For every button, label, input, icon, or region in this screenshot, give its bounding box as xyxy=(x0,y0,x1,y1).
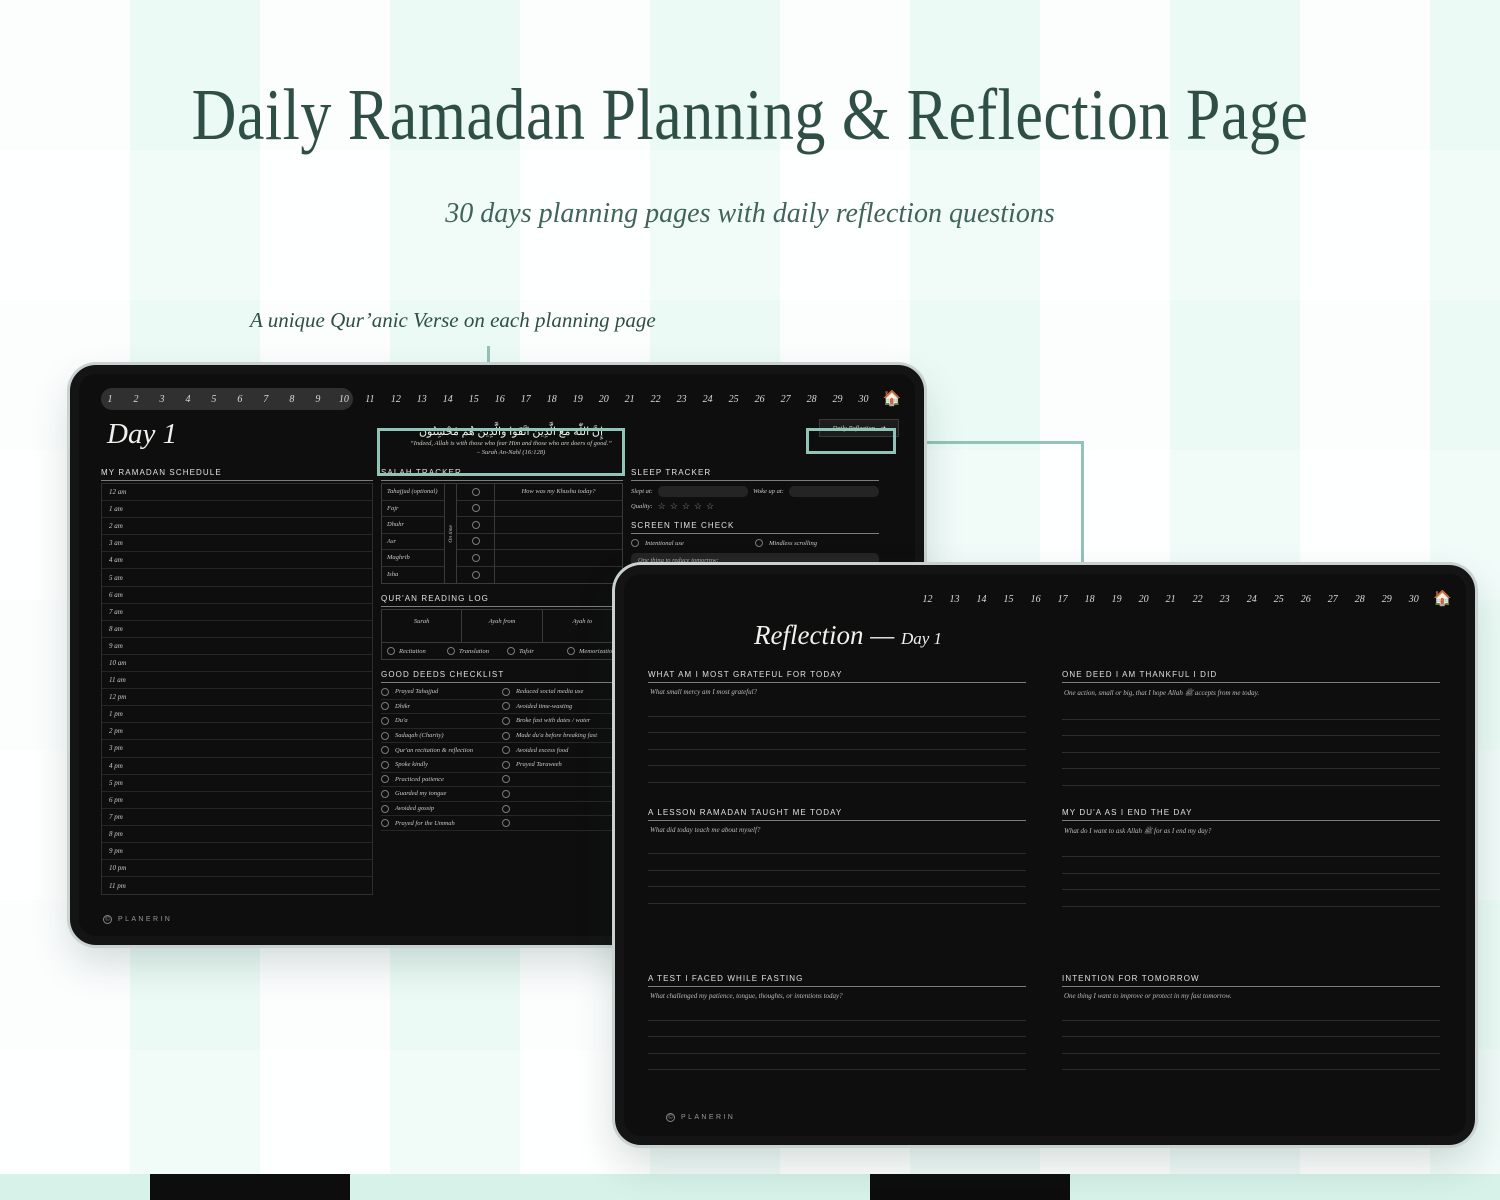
quran-log-headers: SurahAyah fromAyah to xyxy=(382,610,622,632)
slept-at-label: Slept at: xyxy=(631,488,653,495)
checkbox-icon[interactable] xyxy=(502,819,510,827)
checkbox-icon[interactable] xyxy=(381,746,389,754)
day-nav-26[interactable]: 26 xyxy=(747,394,773,405)
write-line[interactable] xyxy=(648,1036,1026,1037)
star-icon[interactable]: ☆ xyxy=(682,502,690,511)
deed-item-left[interactable]: Du'a xyxy=(381,714,502,728)
reflection-title-day: Day 1 xyxy=(901,629,942,648)
divider xyxy=(381,606,623,607)
deed-item-right[interactable]: Avoided excess food xyxy=(502,743,623,757)
quran-log-title: QUR'AN READING LOG xyxy=(381,594,623,606)
day-nav-30[interactable]: 30 xyxy=(851,394,877,405)
checkbox-icon[interactable] xyxy=(381,702,389,710)
deed-item-left[interactable]: Guarded my tongue xyxy=(381,787,502,801)
day-nav-6[interactable]: 6 xyxy=(227,394,253,405)
day-nav-4[interactable]: 4 xyxy=(175,394,201,405)
bottom-strip xyxy=(0,1174,1500,1200)
copyright-icon: © xyxy=(666,1113,675,1122)
checkbox-icon[interactable] xyxy=(472,571,480,579)
salah-check-cells[interactable] xyxy=(457,484,495,583)
quran-log-option[interactable]: Tafsir xyxy=(502,647,562,655)
reflection-block-one-deed[interactable]: ONE DEED I AM THANKFUL I DID One action,… xyxy=(1062,670,1440,786)
khushu-cell[interactable] xyxy=(495,501,622,518)
checkbox-icon[interactable] xyxy=(472,504,480,512)
deed-row[interactable]: Prayed for the Ummah xyxy=(381,816,623,831)
woke-up-input[interactable] xyxy=(789,486,879,497)
deed-item-left[interactable]: Prayed Tahajjud xyxy=(381,685,502,699)
reflection-day-navigation[interactable]: 12 13 14 15 16 17 18 19 20 21 22 23 24 2… xyxy=(914,588,1452,610)
day-nav-13[interactable]: 13 xyxy=(409,394,435,405)
deed-item-right[interactable]: Made du'a before breaking fast xyxy=(502,729,623,743)
checkbox-icon[interactable] xyxy=(381,732,389,740)
write-line[interactable] xyxy=(648,1053,1026,1054)
write-line[interactable] xyxy=(1062,1069,1440,1070)
deed-item-right[interactable]: Avoided time-wasting xyxy=(502,700,623,714)
checkbox-icon[interactable] xyxy=(387,647,395,655)
sleep-quality-row: Quality: ☆☆☆☆☆ xyxy=(631,502,879,511)
option-label: Intentional use xyxy=(645,540,684,547)
schedule-table[interactable]: 12 am1 am2 am3 am4 am5 am6 am7 am8 am9 a… xyxy=(101,483,373,895)
deed-row[interactable]: Guarded my tongue xyxy=(381,787,623,802)
divider xyxy=(101,480,373,481)
write-line[interactable] xyxy=(648,749,1026,750)
quran-log-body[interactable] xyxy=(382,632,622,643)
salah-row-label: Fajr xyxy=(382,501,444,518)
refl-day-nav-21[interactable]: 21 xyxy=(1157,594,1184,605)
khushu-cell[interactable]: How was my Khushu today? xyxy=(495,484,622,501)
write-line[interactable] xyxy=(1062,1036,1440,1037)
checkbox-icon[interactable] xyxy=(447,647,455,655)
reflection-title-main: Reflection — xyxy=(754,620,894,650)
checkbox-icon[interactable] xyxy=(472,554,480,562)
day-nav-19[interactable]: 19 xyxy=(565,394,591,405)
divider xyxy=(381,480,623,481)
checkbox-icon[interactable] xyxy=(381,805,389,813)
write-line[interactable] xyxy=(1062,785,1440,786)
reflection-page-screen: 12 13 14 15 16 17 18 19 20 21 22 23 24 2… xyxy=(624,574,1466,1136)
day-nav-24[interactable]: 24 xyxy=(695,394,721,405)
refl-day-nav-29[interactable]: 29 xyxy=(1373,594,1400,605)
good-deeds-title: GOOD DEEDS CHECKLIST xyxy=(381,670,623,682)
schedule-row[interactable]: 7 pm xyxy=(102,809,372,826)
write-line[interactable] xyxy=(648,886,1026,887)
refl-day-nav-13[interactable]: 13 xyxy=(941,594,968,605)
schedule-row[interactable]: 10 am xyxy=(102,655,372,672)
schedule-row[interactable]: 12 pm xyxy=(102,689,372,706)
reflection-block-lesson[interactable]: A LESSON RAMADAN TAUGHT ME TODAY What di… xyxy=(648,808,1026,907)
reflection-heading: WHAT AM I MOST GRATEFUL FOR TODAY xyxy=(648,670,1026,682)
deed-item-right[interactable] xyxy=(502,787,623,801)
write-line[interactable] xyxy=(1062,906,1440,907)
checkbox-icon[interactable] xyxy=(502,702,510,710)
home-icon[interactable]: 🏠 xyxy=(883,392,902,407)
checkbox-icon[interactable] xyxy=(381,790,389,798)
brand-footer: © PLANERIN xyxy=(666,1113,735,1122)
day-nav-29[interactable]: 29 xyxy=(825,394,851,405)
refl-day-nav-12[interactable]: 12 xyxy=(914,594,941,605)
copyright-icon: © xyxy=(103,915,112,924)
schedule-title: MY RAMADAN SCHEDULE xyxy=(101,468,373,480)
day-nav-15[interactable]: 15 xyxy=(461,394,487,405)
schedule-row[interactable]: 2 pm xyxy=(102,723,372,740)
quran-log-option[interactable]: Recitation xyxy=(382,647,442,655)
day-navigation[interactable]: 1 2 3 4 5 6 7 8 9 10 11 12 13 14 15 16 1… xyxy=(97,388,901,410)
screen-time-options[interactable]: Intentional use Mindless scrolling xyxy=(631,539,879,547)
schedule-column: MY RAMADAN SCHEDULE 12 am1 am2 am3 am4 a… xyxy=(101,468,373,895)
sleep-tracker-title: SLEEP TRACKER xyxy=(631,468,879,480)
schedule-row[interactable]: 9 am xyxy=(102,638,372,655)
refl-day-nav-20[interactable]: 20 xyxy=(1130,594,1157,605)
salah-row-label: Tahajjud (optional) xyxy=(382,484,444,501)
checkbox-icon[interactable] xyxy=(502,761,510,769)
refl-day-nav-25[interactable]: 25 xyxy=(1265,594,1292,605)
write-line[interactable] xyxy=(1062,873,1440,874)
write-line[interactable] xyxy=(648,1020,1026,1021)
day-nav-7[interactable]: 7 xyxy=(253,394,279,405)
brand-name: PLANERIN xyxy=(118,916,172,923)
schedule-row[interactable]: 11 pm xyxy=(102,877,372,894)
salah-check-cell[interactable] xyxy=(457,567,494,584)
reflection-block-test[interactable]: A TEST I FACED WHILE FASTING What challe… xyxy=(648,974,1026,1070)
schedule-row[interactable]: 8 pm xyxy=(102,826,372,843)
refl-day-nav-18[interactable]: 18 xyxy=(1076,594,1103,605)
deed-row[interactable]: Prayed Tahajjud Reduced social media use xyxy=(381,685,623,700)
checkbox-icon[interactable] xyxy=(381,688,389,696)
brand-name: PLANERIN xyxy=(681,1114,735,1121)
option-label: Mindless scrolling xyxy=(769,540,817,547)
deed-row[interactable]: Avoided gossip xyxy=(381,802,623,817)
day-nav-3[interactable]: 3 xyxy=(149,394,175,405)
reduce-tomorrow-placeholder: One thing to reduce tomorrow: xyxy=(638,557,719,564)
schedule-row[interactable]: 4 am xyxy=(102,552,372,569)
day-nav-23[interactable]: 23 xyxy=(669,394,695,405)
schedule-row[interactable]: 3 pm xyxy=(102,740,372,757)
refl-day-nav-27[interactable]: 27 xyxy=(1319,594,1346,605)
refl-day-nav-22[interactable]: 22 xyxy=(1184,594,1211,605)
deed-item-left[interactable]: Qur'an recitation & reflection xyxy=(381,743,502,757)
salah-name-cells: Tahajjud (optional)FajrDhuhrAsrMaghribIs… xyxy=(382,484,444,583)
write-line[interactable] xyxy=(1062,1053,1440,1054)
write-line[interactable] xyxy=(648,870,1026,871)
refl-day-nav-26[interactable]: 26 xyxy=(1292,594,1319,605)
reflection-block-grateful[interactable]: WHAT AM I MOST GRATEFUL FOR TODAY What s… xyxy=(648,670,1026,786)
schedule-row[interactable]: 12 am xyxy=(102,484,372,501)
annotation-verse-label: A unique Qur’anic Verse on each planning… xyxy=(250,308,656,333)
deed-item-left[interactable]: Spoke kindly xyxy=(381,758,502,772)
checkbox-icon[interactable] xyxy=(381,775,389,783)
schedule-row[interactable]: 11 am xyxy=(102,672,372,689)
deed-item-left[interactable]: Avoided gossip xyxy=(381,802,502,816)
write-line[interactable] xyxy=(1062,889,1440,890)
day-nav-2[interactable]: 2 xyxy=(123,394,149,405)
quality-label: Quality: xyxy=(631,503,653,510)
page-title: Daily Ramadan Planning & Reflection Page xyxy=(0,74,1500,158)
screen-option-intentional[interactable]: Intentional use xyxy=(631,539,755,547)
checkbox-icon[interactable] xyxy=(381,717,389,725)
quran-log-option[interactable]: Memorization xyxy=(562,647,622,655)
checkbox-icon[interactable] xyxy=(502,688,510,696)
day-nav-22[interactable]: 22 xyxy=(643,394,669,405)
brand-footer: © PLANERIN xyxy=(103,915,172,924)
schedule-row[interactable]: 6 am xyxy=(102,587,372,604)
day-nav-25[interactable]: 25 xyxy=(721,394,747,405)
reflection-sections-top: WHAT AM I MOST GRATEFUL FOR TODAY What s… xyxy=(648,670,1440,907)
schedule-row[interactable]: 6 pm xyxy=(102,792,372,809)
checkbox-icon[interactable] xyxy=(502,717,510,725)
write-line[interactable] xyxy=(648,1069,1026,1070)
checkbox-icon[interactable] xyxy=(567,647,575,655)
deed-item-left[interactable]: Dhikr xyxy=(381,700,502,714)
schedule-row[interactable]: 2 am xyxy=(102,518,372,535)
schedule-row[interactable]: 9 pm xyxy=(102,843,372,860)
salah-check-cell[interactable] xyxy=(457,517,494,534)
day-nav-8[interactable]: 8 xyxy=(279,394,305,405)
khushu-cell[interactable] xyxy=(495,517,622,534)
day-nav-27[interactable]: 27 xyxy=(773,394,799,405)
write-line[interactable] xyxy=(648,903,1026,904)
reflection-prompt: What do I want to ask Allah ﷺ for as I e… xyxy=(1062,821,1440,841)
reflection-heading: A TEST I FACED WHILE FASTING xyxy=(648,974,1026,986)
home-icon[interactable]: 🏠 xyxy=(1433,592,1452,607)
checkbox-icon[interactable] xyxy=(507,647,515,655)
deed-row[interactable]: Sadaqah (Charity) Made du'a before break… xyxy=(381,729,623,744)
divider xyxy=(381,682,623,683)
quran-log-option[interactable]: Translation xyxy=(442,647,502,655)
salah-check-cell[interactable] xyxy=(457,484,494,501)
refl-day-nav-24[interactable]: 24 xyxy=(1238,594,1265,605)
refl-day-nav-17[interactable]: 17 xyxy=(1049,594,1076,605)
checkbox-icon[interactable] xyxy=(381,761,389,769)
day-nav-18[interactable]: 18 xyxy=(539,394,565,405)
salah-ontime-header: On time xyxy=(444,484,457,583)
checkbox-icon[interactable] xyxy=(502,790,510,798)
deed-item-left[interactable]: Practiced patience xyxy=(381,773,502,787)
day-nav-12[interactable]: 12 xyxy=(383,394,409,405)
schedule-row[interactable]: 7 am xyxy=(102,604,372,621)
deed-item-right[interactable]: Prayed Taraweeh xyxy=(502,758,623,772)
reflection-prompt: What challenged my patience, tongue, tho… xyxy=(648,987,1026,1004)
checkbox-icon[interactable] xyxy=(502,805,510,813)
refl-day-nav-15[interactable]: 15 xyxy=(995,594,1022,605)
woke-up-label: Woke up at: xyxy=(753,488,784,495)
quran-log-header: Ayah from xyxy=(462,610,542,632)
day-nav-16[interactable]: 16 xyxy=(487,394,513,405)
reflection-prompt: What did today teach me about myself? xyxy=(648,821,1026,838)
refl-day-nav-30[interactable]: 30 xyxy=(1400,594,1427,605)
salah-row-label: Maghrib xyxy=(382,550,444,567)
reflection-prompt: What small mercy am I most grateful? xyxy=(648,683,1026,700)
divider xyxy=(631,480,879,481)
divider xyxy=(631,533,879,534)
reflection-heading: INTENTION FOR TOMORROW xyxy=(1062,974,1440,986)
write-line[interactable] xyxy=(1062,1020,1440,1021)
khushu-cell[interactable] xyxy=(495,534,622,551)
schedule-row[interactable]: 1 am xyxy=(102,501,372,518)
reflection-heading: A LESSON RAMADAN TAUGHT ME TODAY xyxy=(648,808,1026,820)
radio-icon[interactable] xyxy=(755,539,763,547)
schedule-row[interactable]: 8 am xyxy=(102,621,372,638)
day-nav-14[interactable]: 14 xyxy=(435,394,461,405)
star-icon[interactable]: ☆ xyxy=(706,502,714,511)
salah-khushu-cells[interactable]: How was my Khushu today? xyxy=(495,484,622,583)
checkbox-icon[interactable] xyxy=(472,488,480,496)
ontime-label: On time xyxy=(448,525,454,543)
salah-row-label: Isha xyxy=(382,567,444,584)
schedule-row[interactable]: 5 am xyxy=(102,569,372,586)
checkbox-icon[interactable] xyxy=(472,521,480,529)
checkbox-icon[interactable] xyxy=(472,537,480,545)
schedule-row[interactable]: 5 pm xyxy=(102,775,372,792)
day-nav-28[interactable]: 28 xyxy=(799,394,825,405)
deed-row[interactable]: Dhikr Avoided time-wasting xyxy=(381,700,623,715)
tablet-reflection-device: 12 13 14 15 16 17 18 19 20 21 22 23 24 2… xyxy=(615,565,1475,1145)
reflection-heading: ONE DEED I AM THANKFUL I DID xyxy=(1062,670,1440,682)
reflection-heading: MY DU'A AS I END THE DAY xyxy=(1062,808,1440,820)
star-icon[interactable]: ☆ xyxy=(694,502,702,511)
khushu-cell[interactable] xyxy=(495,567,622,584)
day-nav-21[interactable]: 21 xyxy=(617,394,643,405)
schedule-row[interactable]: 4 pm xyxy=(102,758,372,775)
write-line[interactable] xyxy=(648,716,1026,717)
checkbox-icon[interactable] xyxy=(502,775,510,783)
schedule-row[interactable]: 1 pm xyxy=(102,706,372,723)
day-nav-5[interactable]: 5 xyxy=(201,394,227,405)
reflection-page-title: Reflection — Day 1 xyxy=(754,620,942,651)
write-line[interactable] xyxy=(1062,752,1440,753)
reflection-block-intention[interactable]: INTENTION FOR TOMORROW One thing I want … xyxy=(1062,974,1440,1070)
deed-item-right[interactable] xyxy=(502,802,623,816)
highlight-box-daily-reflection xyxy=(806,428,896,454)
page-day-title: Day 1 xyxy=(107,418,177,451)
reflection-block-dua[interactable]: MY DU'A AS I END THE DAY What do I want … xyxy=(1062,808,1440,907)
write-line[interactable] xyxy=(648,765,1026,766)
star-icon[interactable]: ☆ xyxy=(658,502,666,511)
page-subtitle: 30 days planning pages with daily reflec… xyxy=(0,198,1500,230)
quality-star-rating[interactable]: ☆☆☆☆☆ xyxy=(658,502,714,511)
refl-day-nav-14[interactable]: 14 xyxy=(968,594,995,605)
salah-row-label: Dhuhr xyxy=(382,517,444,534)
write-line[interactable] xyxy=(1062,719,1440,720)
sleep-times-row: Slept at: Woke up at: xyxy=(631,486,879,497)
refl-day-nav-16[interactable]: 16 xyxy=(1022,594,1049,605)
write-line[interactable] xyxy=(1062,735,1440,736)
checkbox-icon[interactable] xyxy=(502,746,510,754)
day-nav-20[interactable]: 20 xyxy=(591,394,617,405)
day-nav-17[interactable]: 17 xyxy=(513,394,539,405)
write-line[interactable] xyxy=(648,732,1026,733)
quran-log-options[interactable]: RecitationTranslationTafsirMemorization xyxy=(382,643,622,659)
deed-row[interactable]: Spoke kindly Prayed Taraweeh xyxy=(381,758,623,773)
reflection-sections-bottom: A TEST I FACED WHILE FASTING What challe… xyxy=(648,974,1440,1070)
star-icon[interactable]: ☆ xyxy=(670,502,678,511)
deed-item-right[interactable] xyxy=(502,816,623,830)
deed-item-right[interactable]: Reduced social media use xyxy=(502,685,623,699)
highlight-box-verse xyxy=(377,428,625,476)
day-nav-11[interactable]: 11 xyxy=(357,394,383,405)
salah-column: SALAH TRACKER Tahajjud (optional)FajrDhu… xyxy=(381,468,623,831)
deed-item-right[interactable] xyxy=(502,773,623,787)
write-line[interactable] xyxy=(648,853,1026,854)
schedule-row[interactable]: 10 pm xyxy=(102,860,372,877)
reflection-prompt: One thing I want to improve or protect i… xyxy=(1062,987,1440,1004)
screen-time-title: SCREEN TIME CHECK xyxy=(631,521,879,533)
salah-tracker-table[interactable]: Tahajjud (optional)FajrDhuhrAsrMaghribIs… xyxy=(381,483,623,584)
deed-row[interactable]: Qur'an recitation & reflection Avoided e… xyxy=(381,743,623,758)
checkbox-icon[interactable] xyxy=(381,819,389,827)
salah-check-cell[interactable] xyxy=(457,534,494,551)
slept-at-input[interactable] xyxy=(658,486,748,497)
deed-row[interactable]: Practiced patience xyxy=(381,773,623,788)
schedule-row[interactable]: 3 am xyxy=(102,535,372,552)
refl-day-nav-28[interactable]: 28 xyxy=(1346,594,1373,605)
write-line[interactable] xyxy=(1062,768,1440,769)
write-line[interactable] xyxy=(1062,856,1440,857)
day-nav-10[interactable]: 10 xyxy=(331,394,357,405)
radio-icon[interactable] xyxy=(631,539,639,547)
checkbox-icon[interactable] xyxy=(502,732,510,740)
deed-item-left[interactable]: Sadaqah (Charity) xyxy=(381,729,502,743)
khushu-cell[interactable] xyxy=(495,550,622,567)
refl-day-nav-19[interactable]: 19 xyxy=(1103,594,1130,605)
quran-log-header: Surah xyxy=(382,610,462,632)
deed-item-left[interactable]: Prayed for the Ummah xyxy=(381,816,502,830)
salah-check-cell[interactable] xyxy=(457,550,494,567)
write-line[interactable] xyxy=(648,782,1026,783)
good-deeds-checklist[interactable]: Prayed Tahajjud Reduced social media use… xyxy=(381,685,623,831)
refl-day-nav-23[interactable]: 23 xyxy=(1211,594,1238,605)
deed-item-right[interactable]: Broke fast with dates / water xyxy=(502,714,623,728)
screen-option-mindless[interactable]: Mindless scrolling xyxy=(755,539,879,547)
salah-check-cell[interactable] xyxy=(457,501,494,518)
quran-log-header: Ayah to xyxy=(543,610,622,632)
quran-reading-log[interactable]: SurahAyah fromAyah to RecitationTranslat… xyxy=(381,609,623,660)
deed-row[interactable]: Du'a Broke fast with dates / water xyxy=(381,714,623,729)
day-nav-1[interactable]: 1 xyxy=(97,394,123,405)
salah-row-label: Asr xyxy=(382,534,444,551)
reflection-prompt: One action, small or big, that I hope Al… xyxy=(1062,683,1440,703)
day-nav-9[interactable]: 9 xyxy=(305,394,331,405)
